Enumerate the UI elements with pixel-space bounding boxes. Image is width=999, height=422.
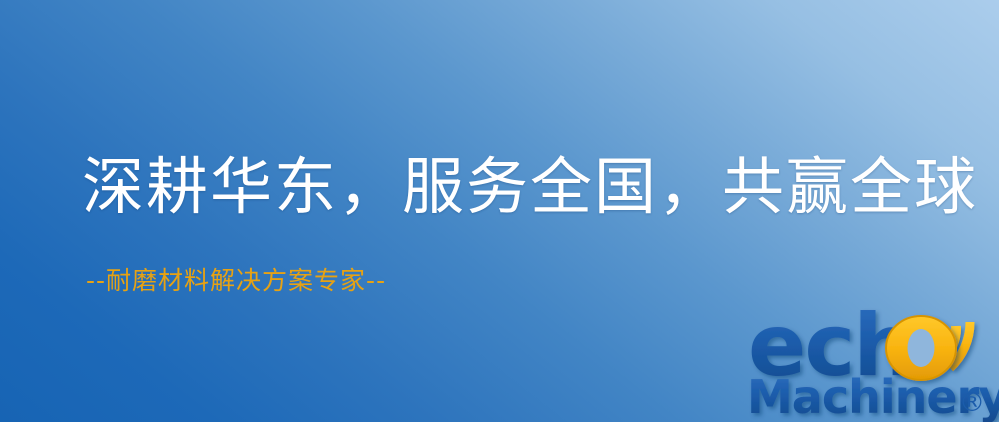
promo-banner: 深耕华东，服务全国，共赢全球 --耐磨材料解决方案专家-- [0, 0, 999, 422]
echo-machinery-logo[interactable]: ech Machinery ® [742, 296, 999, 422]
registered-trademark-icon: ® [959, 388, 985, 418]
banner-subtitle: --耐磨材料解决方案专家-- [86, 265, 386, 297]
page-title: 深耕华东，服务全国，共赢全球 [82, 152, 978, 224]
